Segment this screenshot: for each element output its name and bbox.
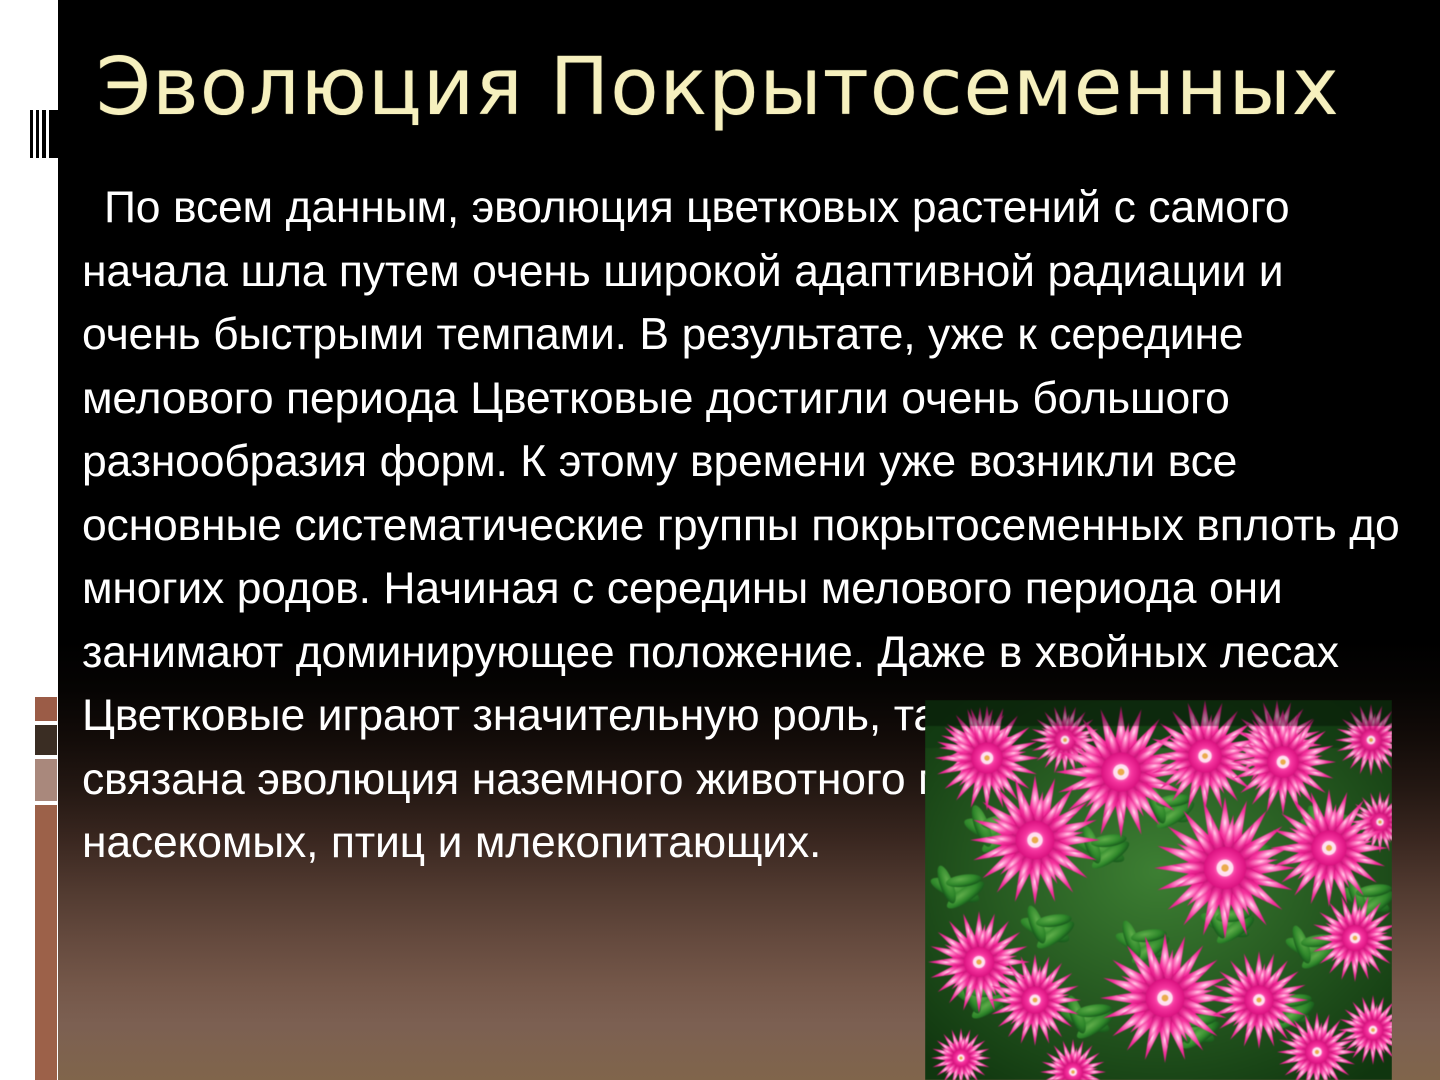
slide-title: Эволюция Покрытосеменных: [96, 48, 1336, 127]
flower-photo-inner: [925, 700, 1392, 1080]
swatch-segment-dark-brown: [35, 725, 57, 755]
flower-photo: [925, 700, 1392, 1080]
aster-flowers-illustration: [925, 700, 1392, 1080]
barcode-bar: [49, 110, 59, 158]
barcode-bar: [36, 110, 39, 158]
color-swatch-bar-decoration-icon: [35, 697, 57, 1080]
left-sidebar-strip: [0, 0, 58, 1080]
swatch-segment-reddish-brown: [35, 697, 57, 721]
presentation-slide: Эволюция Покрытосеменных По всем данным,…: [0, 0, 1440, 1080]
barcode-bar: [42, 110, 46, 158]
barcode-decoration-icon: [30, 110, 59, 158]
barcode-bar: [30, 110, 33, 158]
swatch-segment-long-reddish: [35, 805, 57, 1080]
swatch-segment-mauve: [35, 759, 57, 801]
